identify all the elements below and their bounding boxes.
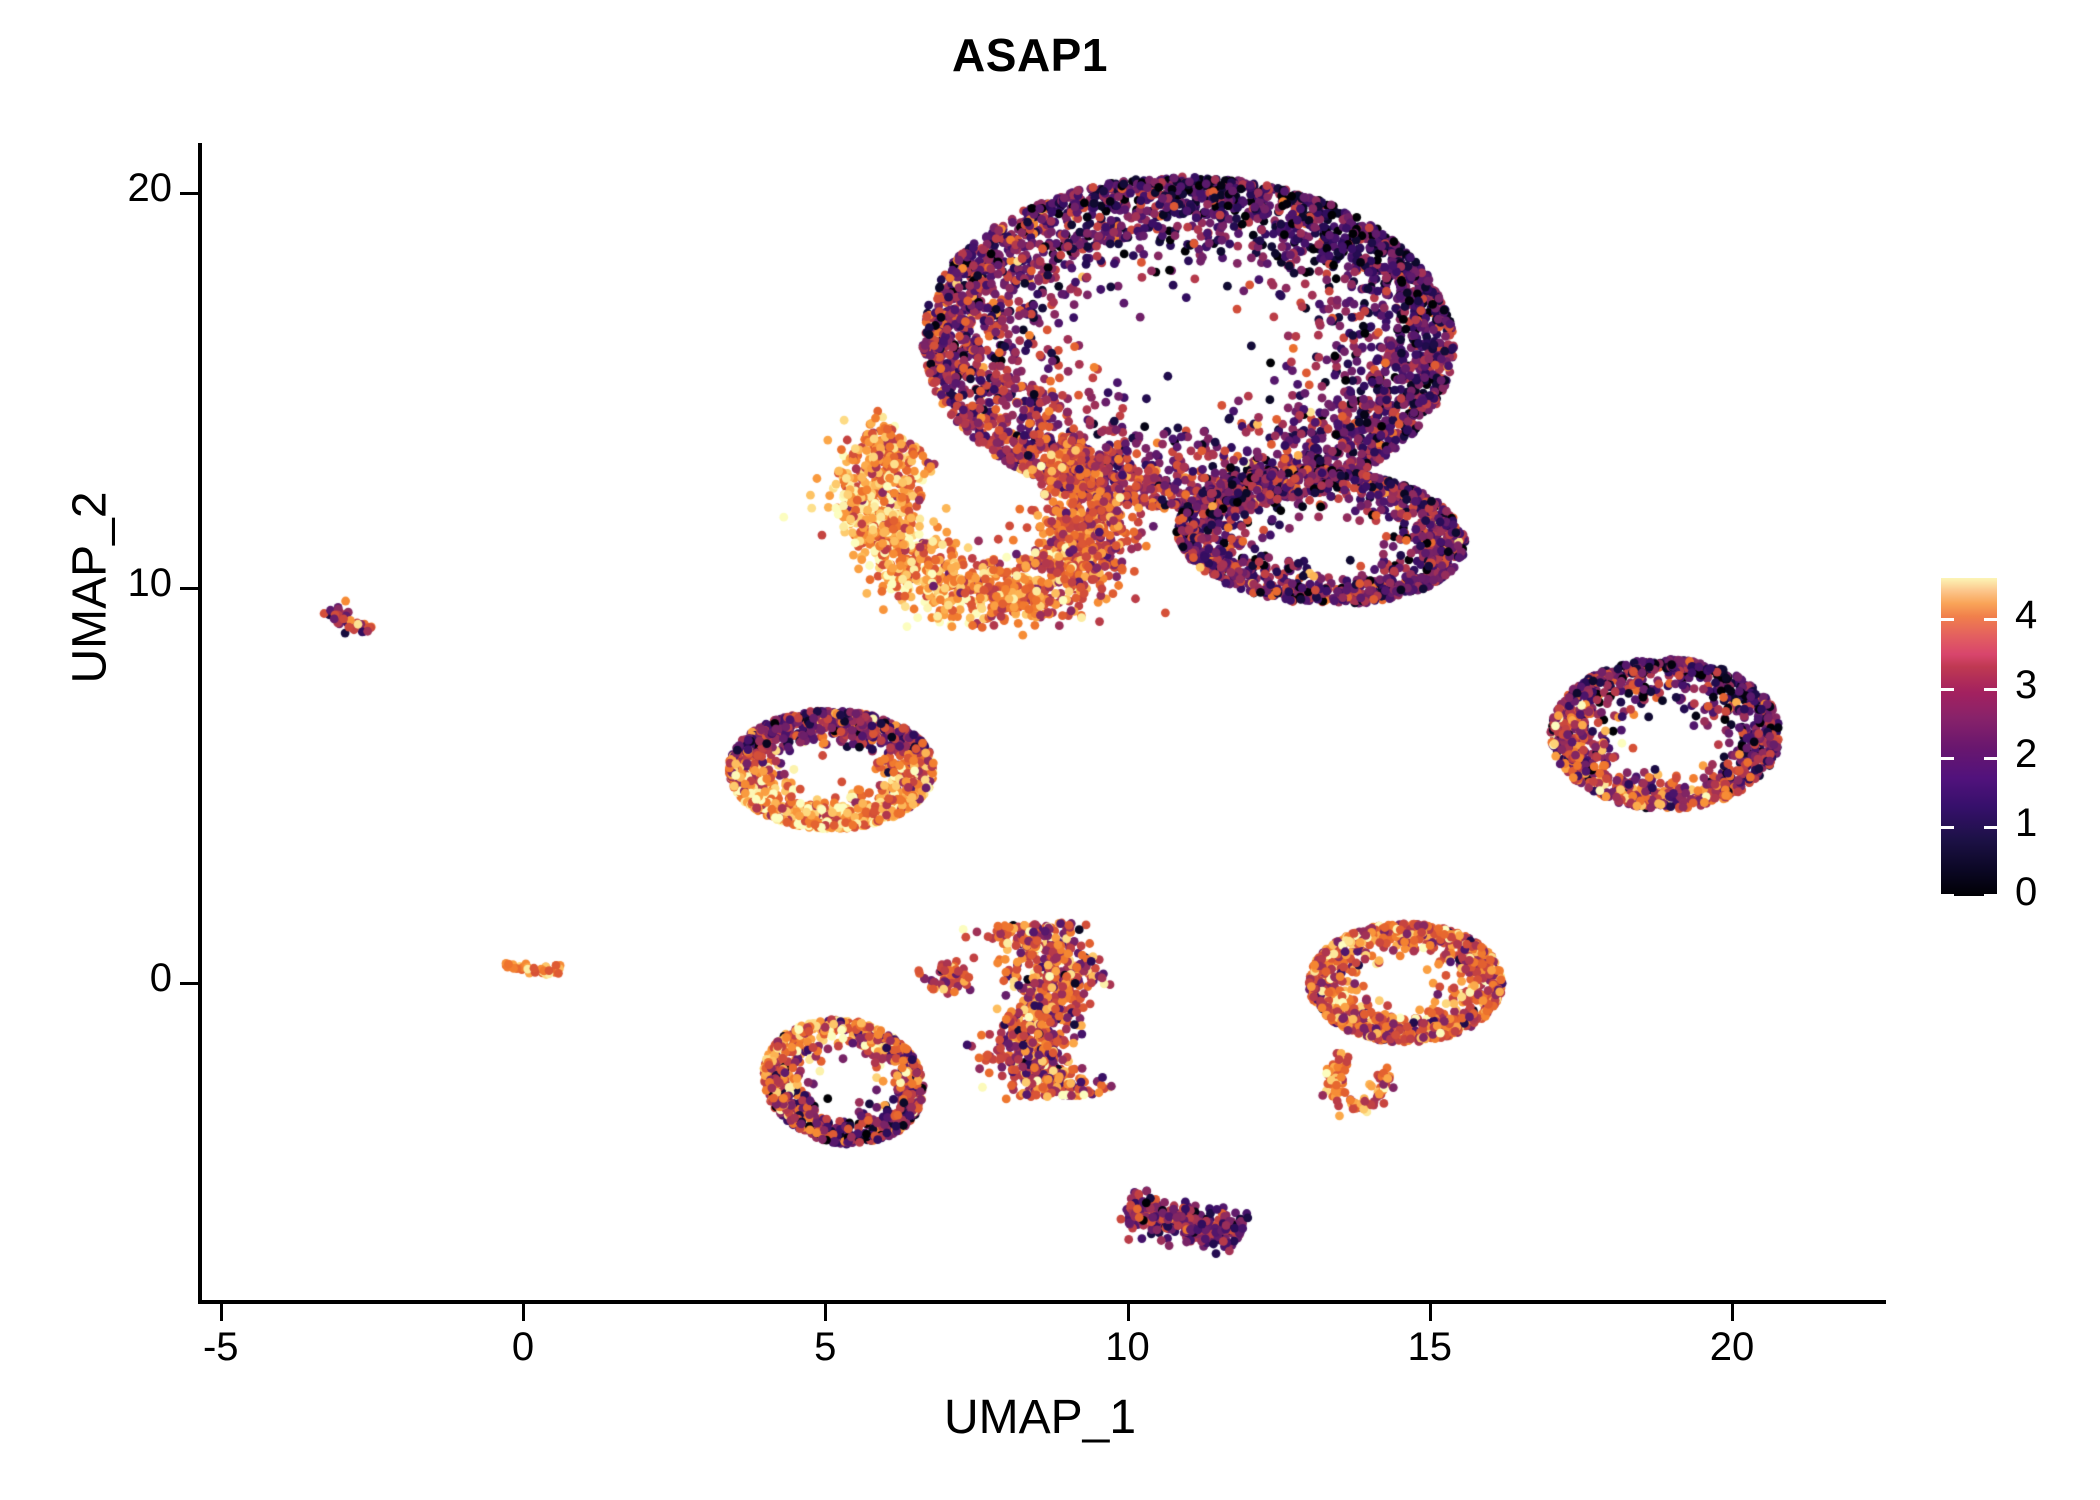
scatter-points-canvas [200, 143, 1886, 1300]
colorbar-tick-mark [1941, 894, 1954, 897]
x-tick-mark [1127, 1303, 1130, 1321]
x-tick-mark [1429, 1303, 1432, 1321]
plot-panel [200, 143, 1886, 1300]
colorbar-tick-mark [1941, 826, 1954, 829]
x-tick-label: 10 [1058, 1325, 1198, 1370]
colorbar-gradient [1941, 578, 1997, 896]
y-axis-label: UMAP_2 [63, 188, 118, 988]
y-tick-mark [180, 982, 198, 985]
colorbar-tick-mark [1984, 688, 1997, 691]
colorbar-tick-label: 3 [2015, 663, 2037, 708]
colorbar-tick-mark [1941, 757, 1954, 760]
x-tick-label: 5 [755, 1325, 895, 1370]
chart-title: ASAP1 [0, 28, 2060, 82]
colorbar-tick-mark [1984, 618, 1997, 621]
x-tick-label: -5 [151, 1325, 291, 1370]
y-tick-mark [180, 192, 198, 195]
x-axis-label: UMAP_1 [340, 1390, 1740, 1445]
colorbar-tick-mark [1941, 618, 1954, 621]
x-tick-label: 0 [453, 1325, 593, 1370]
colorbar-tick-label: 0 [2015, 870, 2037, 915]
x-tick-label: 15 [1360, 1325, 1500, 1370]
colorbar-legend: 01234 [1941, 578, 2091, 898]
colorbar-tick-mark [1984, 757, 1997, 760]
x-tick-mark [220, 1303, 223, 1321]
y-tick-mark [180, 587, 198, 590]
x-tick-mark [1731, 1303, 1734, 1321]
colorbar-tick-label: 4 [2015, 593, 2037, 638]
colorbar-tick-label: 2 [2015, 732, 2037, 777]
y-axis-line [198, 143, 202, 1303]
x-tick-label: 20 [1662, 1325, 1802, 1370]
colorbar-tick-label: 1 [2015, 801, 2037, 846]
x-tick-mark [824, 1303, 827, 1321]
x-tick-mark [522, 1303, 525, 1321]
x-axis-line [198, 1300, 1886, 1304]
colorbar-tick-mark [1984, 894, 1997, 897]
colorbar-tick-mark [1941, 688, 1954, 691]
figure-root: ASAP1 01020 -505101520 UMAP_1 UMAP_2 012… [0, 0, 2100, 1500]
colorbar-tick-mark [1984, 826, 1997, 829]
